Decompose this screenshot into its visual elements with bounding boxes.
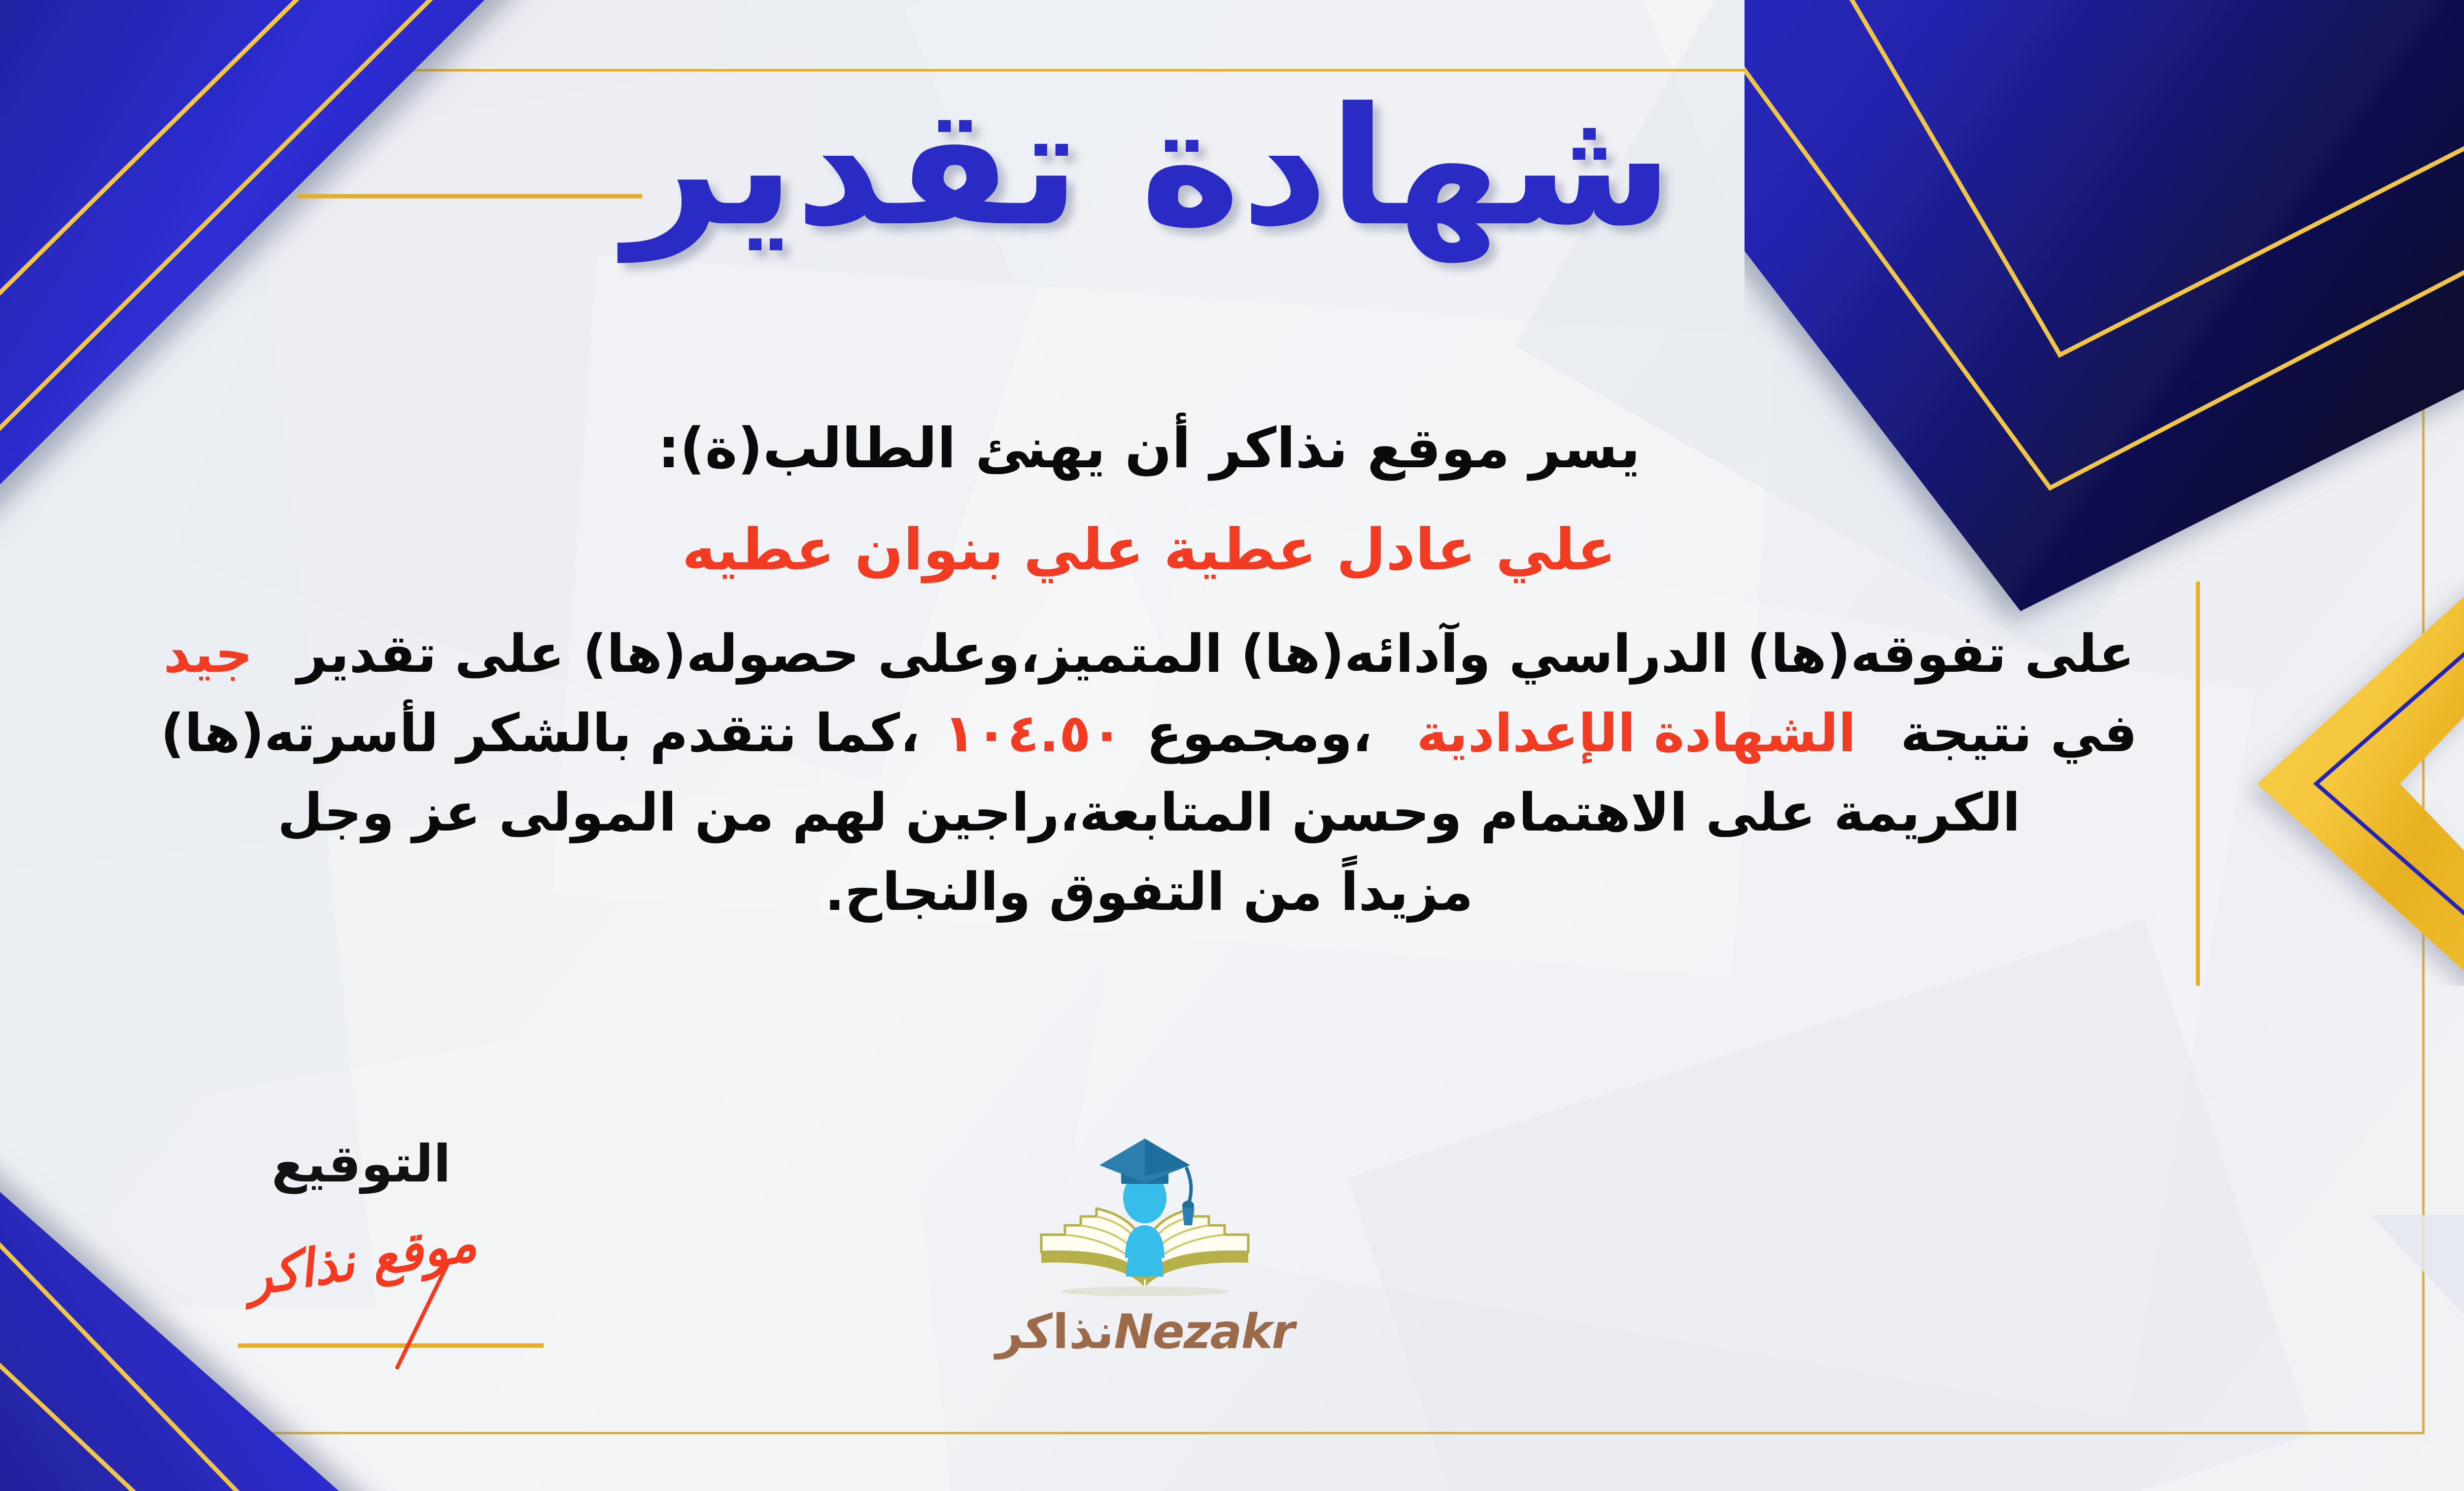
achievement-paragraph: على تفوقه(ها) الدراسي وآدائه(ها) المتميز…	[0, 614, 2405, 932]
exam-name: الشهادة الإعدادية	[1416, 703, 1856, 763]
page-title: شهادة تقدير	[625, 74, 1674, 261]
result-text-part3: ،كما نتقدم بالشكر لأسرته(ها)	[161, 703, 920, 763]
student-name: علي عادل عطية علي بنوان عطيه	[0, 510, 2405, 590]
certificate-page: شهادة تقدير يسر موقع نذاكر أن يهنئ الطال…	[0, 0, 2464, 1491]
certificate-body: يسر موقع نذاكر أن يهنئ الطالب(ة): علي عا…	[0, 404, 2405, 932]
signature-label: التوقيع	[208, 1134, 514, 1194]
thanks-line: الكريمة على الاهتمام وحسن المتابعة،راجين…	[277, 782, 2020, 843]
brand-name-latin: Nezakr	[1114, 1304, 1294, 1359]
grade-value: جيد	[164, 624, 253, 684]
graduate-open-book-logo-icon	[1007, 1129, 1283, 1306]
certificate-title-block: شهادة تقدير	[0, 74, 2464, 261]
signature-block: التوقيع موقع نذاكر	[208, 1134, 514, 1290]
brand-logo-text: Nezakrنذاكر	[928, 1308, 1362, 1355]
closing-line: مزيداً من التفوق والنجاح.	[825, 862, 1473, 922]
brand-logo-block: Nezakrنذاكر	[928, 1129, 1362, 1355]
brand-name-arabic: نذاكر	[995, 1304, 1114, 1359]
total-score-value: ١٠٤.٥٠	[944, 703, 1123, 763]
achievement-text-part1: على تفوقه(ها) الدراسي وآدائه(ها) المتميز…	[297, 624, 2134, 684]
intro-line: يسر موقع نذاكر أن يهنئ الطالب(ة):	[0, 404, 2405, 493]
result-text-part2: ،ومجموع	[1146, 703, 1372, 763]
result-text-part1: في نتيجة	[1901, 703, 2138, 763]
